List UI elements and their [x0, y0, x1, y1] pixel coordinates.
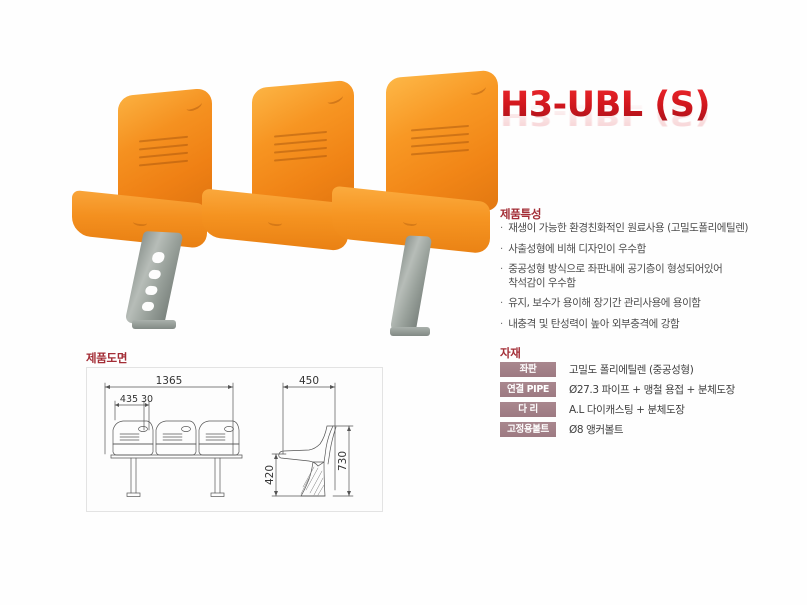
chair-3-foot: [390, 327, 430, 336]
drawing-heading: 제품도면: [86, 350, 127, 366]
dim-label-450: 450: [299, 375, 319, 387]
material-value: Ø8 앵커볼트: [569, 422, 623, 437]
chair-3-leg: [390, 235, 433, 332]
materials-heading: 자재: [500, 345, 521, 361]
front-post-left: [127, 458, 140, 497]
table-row: 좌판 고밀도 폴리에틸렌 (중공성형): [500, 362, 800, 377]
material-label: 좌판: [500, 362, 556, 377]
dim-label-730: 730: [337, 451, 349, 471]
dim-label-1365: 1365: [156, 375, 183, 387]
chair-3-notch-icon: [469, 82, 487, 96]
feature-item: · 재생이 가능한 환경친화적인 원료사용 (고밀도폴리에틸렌): [500, 222, 800, 236]
chair-1-notch-icon: [185, 99, 203, 114]
feature-item: · 중공성형 방식으로 좌판내에 공기층이 형성되어있어 착석감이 우수함: [500, 263, 800, 290]
material-label: 고정용볼트: [500, 422, 556, 437]
dim-label-435: 435: [120, 394, 138, 405]
chair-3-ridges: [411, 125, 469, 166]
table-row: 연결 PIPE Ø27.3 파이프 + 맹철 용접 + 분체도장: [500, 382, 800, 397]
table-row: 다 리 A.L 다이캐스팅 + 분체도장: [500, 402, 800, 417]
chair-1-ridges: [139, 136, 188, 172]
bullet-icon: ·: [500, 297, 503, 310]
front-seat-2: [156, 421, 196, 455]
technical-drawing: 1365 435 30 450 730 420: [86, 367, 383, 512]
page-title-reflection: H3-UBL (S): [500, 99, 710, 128]
feature-text: 중공성형 방식으로 좌판내에 공기층이 형성되어있어 착석감이 우수함: [508, 263, 722, 290]
chair-2-dimple: [268, 218, 282, 226]
feature-item: · 사출성형에 비해 디자인이 우수함: [500, 243, 800, 257]
material-value: Ø27.3 파이프 + 맹철 용접 + 분체도장: [569, 382, 735, 397]
chair-1-leg: [125, 231, 184, 325]
front-seat-1: [113, 421, 153, 455]
product-photo: [60, 70, 490, 340]
product-title-block: H3-UBL (S) H3-UBL (S): [500, 88, 800, 188]
dim-label-30: 30: [141, 394, 153, 405]
material-label: 다 리: [500, 402, 556, 417]
chair-1-dimple: [133, 218, 147, 226]
feature-text: 내충격 및 탄성력이 높아 외부충격에 강함: [508, 318, 679, 332]
drawing-canvas: 1365 435 30 450 730 420: [87, 368, 382, 511]
material-value: A.L 다이캐스팅 + 분체도장: [569, 402, 685, 417]
front-post-right: [211, 458, 224, 497]
dim-label-420: 420: [264, 465, 276, 485]
bullet-icon: ·: [500, 243, 503, 256]
product-spec-sheet: H3-UBL (S) H3-UBL (S) 제품특성 · 재생이 가능한 환경친…: [0, 0, 807, 605]
chair-1-foot: [132, 320, 176, 329]
features-heading: 제품특성: [500, 206, 541, 222]
side-chair-profile: [279, 426, 336, 496]
chair-3-dimple: [403, 218, 417, 226]
photo-stage: [60, 70, 490, 340]
chair-3-leg-body: [390, 235, 433, 332]
feature-item: · 유지, 보수가 용이해 장기간 관리사용에 용이함: [500, 297, 800, 311]
feature-text: 유지, 보수가 용이해 장기간 관리사용에 용이함: [508, 297, 700, 311]
chair-1: [72, 92, 222, 352]
bullet-icon: ·: [500, 222, 503, 235]
features-list: · 재생이 가능한 환경친화적인 원료사용 (고밀도폴리에틸렌) · 사출성형에…: [500, 222, 800, 338]
chair-2-ridges: [274, 131, 327, 169]
materials-table: 좌판 고밀도 폴리에틸렌 (중공성형) 연결 PIPE Ø27.3 파이프 + …: [500, 362, 800, 442]
chair-3: [332, 74, 507, 349]
feature-item: · 내충격 및 탄성력이 높아 외부충격에 강함: [500, 318, 800, 332]
feature-text: 재생이 가능한 환경친화적인 원료사용 (고밀도폴리에틸렌): [508, 222, 748, 236]
bullet-icon: ·: [500, 263, 503, 276]
material-label: 연결 PIPE: [500, 382, 556, 397]
hatching: [301, 467, 324, 495]
bullet-icon: ·: [500, 318, 503, 331]
material-value: 고밀도 폴리에틸렌 (중공성형): [569, 362, 693, 377]
feature-text: 사출성형에 비해 디자인이 우수함: [508, 243, 646, 257]
table-row: 고정용볼트 Ø8 앵커볼트: [500, 422, 800, 437]
